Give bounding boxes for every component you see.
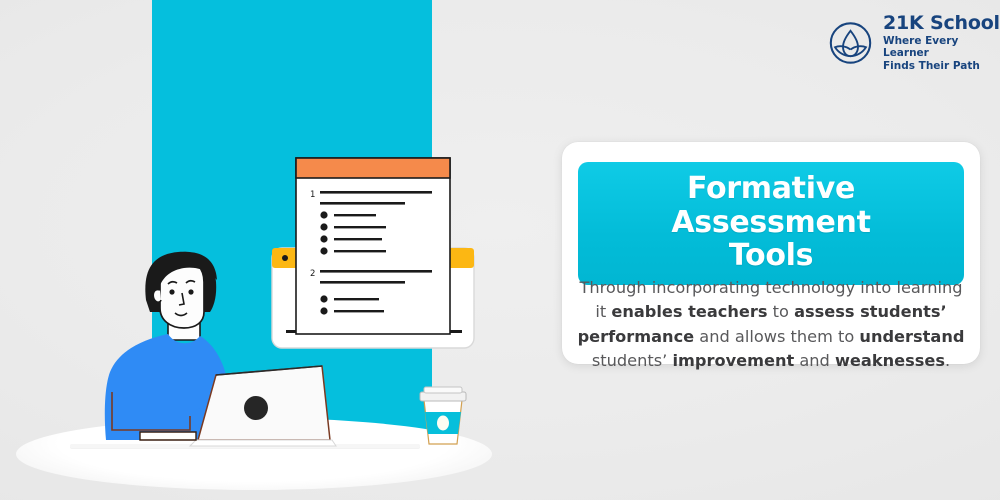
page-title: Formative Assessment Tools	[584, 172, 958, 273]
emphasis-text: enables teachers	[611, 302, 767, 321]
brand-name: 21K School	[883, 14, 1000, 35]
brand-tagline-line1: Where Every Learner	[883, 35, 1000, 60]
brand-logo: 21K School Where Every Learner Finds The…	[828, 14, 1000, 72]
desk-surface-line	[70, 444, 420, 448]
page-title-line2: Tools	[729, 238, 813, 273]
emphasis-text: weaknesses	[835, 351, 945, 370]
page-title-line1: Formative Assessment	[671, 171, 870, 240]
emphasis-text: understand	[859, 327, 964, 346]
card-description: Through incorporating technology into le…	[576, 276, 966, 373]
brand-tagline-line2: Finds Their Path	[883, 60, 1000, 72]
cup-logo-icon	[437, 416, 449, 431]
banner-canvas: 1 2	[0, 0, 1000, 500]
card-title-bar: Formative Assessment Tools	[578, 162, 964, 285]
emphasis-text: improvement	[672, 351, 794, 370]
info-card: Formative Assessment Tools Through incor…	[562, 142, 980, 364]
cyan-backdrop-panel	[152, 0, 432, 440]
lotus-circle-icon	[828, 19, 873, 67]
floor-ellipse	[16, 418, 492, 490]
device-right-tab	[448, 248, 474, 268]
